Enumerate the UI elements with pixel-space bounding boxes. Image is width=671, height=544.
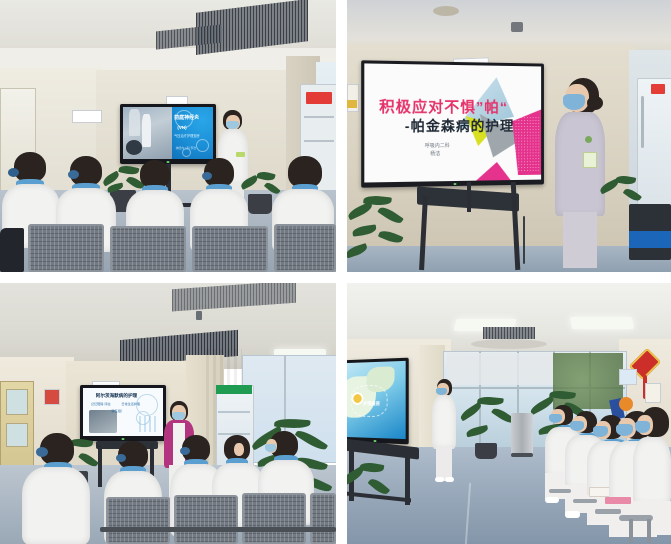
seated-nurse-mask: [549, 414, 562, 423]
display-screen: 护理查房: [347, 361, 406, 439]
potted-plant-left: [347, 196, 417, 272]
seated-nurse-shoe: [545, 497, 559, 503]
stool-2: [573, 499, 597, 503]
slide-bubble-2: [196, 139, 209, 152]
bench-frame-rail: [100, 527, 336, 532]
ceiling-camera: [511, 22, 523, 32]
bench-mesh: [194, 228, 266, 270]
refrigerator-label: [306, 92, 332, 104]
slide-nursing-rounds: 护理查房: [347, 361, 406, 439]
presenter-nurse: [553, 78, 609, 268]
door-window: [6, 389, 28, 415]
refrigerator-header-label: [216, 385, 252, 394]
slide-row-left: 记忆障碍 评估: [91, 403, 110, 406]
scene-ward-meeting: 护理查房: [347, 283, 671, 544]
display-power-led: [122, 438, 125, 440]
slide-patient-photo: [89, 410, 116, 433]
bench-seat-4: [310, 493, 336, 544]
slide-row-group: （第三组）: [109, 410, 124, 413]
bench-seat-1: [106, 497, 170, 544]
display-stand-leg-right: [405, 447, 410, 505]
plant-leaf: [623, 186, 642, 203]
slide-photo-figure-2: [129, 109, 141, 136]
bench-mesh: [312, 495, 334, 542]
slide-title: 前庭神经炎: [174, 116, 199, 121]
slide-art-triangle-magenta-2: [476, 162, 511, 181]
bench-seat-4: [274, 224, 336, 272]
display-power-led: [454, 183, 457, 185]
recycling-bin: [629, 204, 671, 260]
stool-1: [549, 489, 571, 493]
seated-nurse-mask: [616, 424, 633, 436]
wall-notice-board: [44, 389, 60, 405]
bench-mesh: [112, 228, 184, 270]
presenter-trousers: [563, 212, 597, 268]
slide-alzheimer-nursing: 阿尔茨海默病的护理 记忆障碍 评估 日常生活护理 （第三组）: [83, 388, 163, 436]
bench-mesh: [30, 226, 102, 270]
presentation-display: 护理查房: [347, 358, 409, 445]
slide-subtitle: (VN): [177, 126, 186, 131]
seated-nurse-hair-clip: [68, 170, 79, 179]
bench-seat-2: [110, 226, 186, 272]
display-screen: 前庭神经炎 (VN) 气压治疗护理查房 神经内二科 李洁: [123, 107, 213, 159]
presenter-shoe-right: [445, 477, 454, 482]
bench-seat-3: [242, 493, 306, 544]
ceiling-air-vent: [483, 327, 535, 339]
orange-decoration: [619, 397, 633, 411]
plant-leaf: [377, 204, 404, 226]
bench-mesh: [176, 497, 236, 542]
refrigerator-shelf: [218, 411, 250, 413]
refrigerator-shelf-2: [304, 140, 334, 142]
slide-title: 阿尔茨海默病的护理: [96, 394, 137, 399]
building-outside: [447, 353, 555, 385]
stainless-trolley-wheels: [511, 453, 533, 457]
photo-bottom-left: 阿尔茨海默病的护理 记忆障碍 评估 日常生活护理 （第三组）: [0, 283, 336, 544]
seated-nurse-mask: [265, 444, 276, 452]
refrigerator-shelf: [304, 116, 334, 118]
presenter-uniform: [432, 395, 456, 449]
potted-plant-foreground-left: [347, 463, 389, 523]
slide-title-line2: -帕金森病的护理: [405, 116, 515, 136]
slide-photo-area: [123, 107, 172, 159]
display-screen: 积极应对不惧”帕“ -帕金森病的护理 呼吸内二科 杨洁: [364, 63, 541, 182]
stool-4-leg-2: [647, 519, 651, 543]
ceiling-smoke-detector: [433, 6, 459, 16]
slide-row-right: 日常生活护理: [121, 403, 140, 406]
slide-photo-figure: [142, 114, 151, 146]
plant-leaf: [378, 228, 404, 245]
slide-title-panel: 前庭神经炎 (VN) 气压治疗护理查房 神经内二科 李洁: [172, 107, 213, 159]
stool-4-leg: [629, 519, 633, 543]
bench-mesh: [244, 495, 304, 542]
presenter-nurse: [431, 379, 457, 483]
presenter-trousers: [436, 447, 452, 481]
plant-leaf: [615, 174, 636, 185]
plant-leaf: [368, 476, 391, 497]
wall-sign-left: [72, 110, 102, 123]
plant-leaf: [352, 224, 377, 236]
presentation-display: 积极应对不惧”帕“ -帕金森病的护理 呼吸内二科 杨洁: [361, 60, 544, 187]
stainless-trolley: [511, 413, 533, 455]
slide-art-dot-grid: [514, 116, 541, 173]
presentation-display: 前庭神经炎 (VN) 气压治疗护理查房 神经内二科 李洁: [120, 104, 216, 164]
photo-top-right: 积极应对不惧”帕“ -帕金森病的护理 呼吸内二科 杨洁: [347, 0, 671, 272]
plant-leaf: [359, 461, 384, 474]
stool-3: [595, 509, 621, 514]
seated-nurse-hair-clip: [8, 168, 19, 177]
seated-nurse-uniform: [633, 437, 671, 505]
slide-byline: 神经内二科 李洁: [176, 147, 196, 150]
seated-nurse-mask: [635, 421, 650, 433]
photo-top-left: 前庭神经炎 (VN) 气压治疗护理查房 神经内二科 李洁: [0, 0, 336, 272]
photo-bottom-right: 护理查房: [347, 283, 671, 544]
slide-deco-bars: [139, 416, 157, 432]
presenter-shoe-left: [435, 477, 444, 482]
bench-seat-2: [174, 495, 238, 544]
seated-nurse-face: [234, 443, 244, 456]
plant-leaf: [459, 402, 484, 422]
slide-byline: 呼吸内二科: [425, 142, 450, 149]
cooler-handle: [641, 96, 644, 148]
presenter-uniform: [555, 112, 605, 216]
display-stand-cable: [523, 216, 525, 264]
slide-title: 积极应对不惧”帕“: [379, 96, 508, 118]
plant-leaf: [466, 425, 489, 437]
seated-nurse-hair: [140, 160, 170, 188]
photo-collage: 前庭神经炎 (VN) 气压治疗护理查房 神经内二科 李洁: [0, 0, 671, 544]
presenter-mask: [436, 388, 447, 395]
slide-parkinson-nursing: 积极应对不惧”帕“ -帕金森病的护理 呼吸内二科 杨洁: [364, 63, 541, 182]
recycling-bin-band: [629, 231, 671, 248]
seated-nurse-mask: [593, 426, 608, 437]
seated-nurse-hair-clip: [202, 172, 212, 180]
bench-seat-3: [192, 226, 268, 272]
potted-plant-center-left: [459, 395, 515, 459]
ceiling-fan-duct: [471, 339, 547, 349]
pink-folder: [605, 497, 631, 504]
wall-poster: [645, 383, 661, 403]
ceiling-sprinkler: [196, 311, 202, 320]
presenter-hair-bun: [587, 96, 603, 110]
bench-mesh: [276, 226, 334, 270]
cooler-label: [651, 84, 665, 94]
slide-title: 护理查房: [363, 402, 380, 406]
plant-leaf: [347, 243, 368, 258]
seated-nurse-mask: [570, 421, 584, 431]
plant-pot: [475, 443, 497, 459]
scene-lobby-training: 前庭神经炎 (VN) 气压治疗护理查房 神经内二科 李洁: [0, 0, 336, 272]
seated-nurse-hair-clip: [180, 447, 190, 455]
presenter-badge: [583, 152, 597, 168]
display-stand-post: [467, 182, 471, 212]
scene-dayroom-training: 阿尔茨海默病的护理 记忆障碍 评估 日常生活护理 （第三组）: [0, 283, 336, 544]
wall-certificate: [619, 369, 637, 385]
presenter-mask: [172, 412, 185, 420]
seated-nurse-shoe: [565, 511, 580, 518]
bench-mesh: [108, 499, 168, 542]
ceiling-light-panel-right: [570, 317, 634, 329]
slide-photo-object: [126, 140, 143, 155]
seated-nurse-hair-clip: [116, 454, 126, 462]
wall-notice-left-bar: [347, 100, 357, 108]
scene-parkinson-lecture: 积极应对不惧”帕“ -帕金森病的护理 呼吸内二科 杨洁: [347, 0, 671, 272]
seated-nurse-uniform: [22, 467, 90, 544]
presenter-logo: [585, 136, 592, 143]
office-chair: [0, 228, 24, 272]
presenter-mask: [226, 121, 239, 129]
presenter-badge: [236, 152, 245, 157]
plant-pot: [248, 194, 272, 214]
seated-nurse-hair-clip: [36, 447, 48, 457]
slide-vestibular-neuritis: 前庭神经炎 (VN) 气压治疗护理查房 神经内二科 李洁: [123, 107, 213, 159]
seated-nurse: [22, 433, 90, 544]
slide-byline-name: 杨洁: [430, 150, 440, 157]
seated-nurse-hair: [14, 152, 46, 182]
display-screen: 阿尔茨海默病的护理 记忆障碍 评估 日常生活护理 （第三组）: [83, 388, 163, 436]
slide-tagline: 气压治疗护理查房: [174, 135, 200, 138]
presenter-mask: [563, 94, 585, 110]
bench-seat-1: [28, 224, 104, 272]
